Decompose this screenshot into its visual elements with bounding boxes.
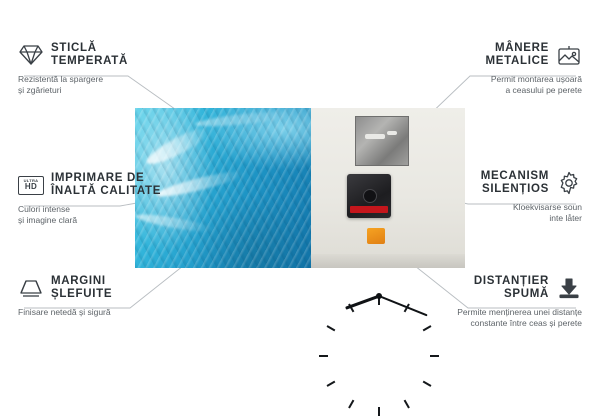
feature-title-line1: MÂNERE: [485, 42, 549, 55]
hanger-slot: [365, 134, 385, 139]
feature-title-line1: IMPRIMARE DE: [51, 172, 161, 185]
product-image: [135, 108, 465, 268]
feature-desc-line2: inte låter: [422, 213, 582, 224]
clock-minute-hand: [379, 295, 428, 316]
feature-description: Permite menținerea unei distanțe constan…: [422, 307, 582, 329]
diamond-icon: [18, 42, 44, 68]
feature-desc-line1: Finisare netedă și sigură: [18, 307, 178, 318]
feature-title-line2: SPUMĂ: [474, 288, 549, 301]
feature-description: Finisare netedă și sigură: [18, 307, 178, 318]
feature-desc-line1: Rezistentă la spargere: [18, 74, 178, 85]
feature-title-line2: ȘLEFUITE: [51, 288, 112, 301]
feature-title-line2: SILENȚIOS: [481, 183, 549, 196]
clock-hour-hand: [345, 295, 380, 310]
feature-description: Permit montarea ușoară a ceasului pe per…: [422, 74, 582, 96]
metal-hanger-part: [355, 116, 409, 166]
feature-title-line1: MARGINI: [51, 275, 112, 288]
feature-margini-slefuite: MARGINI ȘLEFUITE Finisare netedă și sigu…: [18, 275, 178, 318]
feature-desc-line2: constante între ceas și perete: [422, 318, 582, 329]
ultra-hd-badge-icon: ULTRA HD: [18, 172, 44, 198]
feature-description: Kloekvisarse soun inte låter: [422, 202, 582, 224]
feature-title: MARGINI ȘLEFUITE: [51, 275, 112, 301]
feature-desc-line1: Kloekvisarse soun: [422, 202, 582, 213]
frame-hanger-icon: [556, 42, 582, 68]
feature-desc-line2: a ceasului pe perete: [422, 85, 582, 96]
feature-description: Rezistentă la spargere și zgârieturi: [18, 74, 178, 96]
gear-icon: [556, 170, 582, 196]
clock-center-cap: [376, 293, 382, 299]
feature-desc-line1: Permite menținerea unei distanțe: [422, 307, 582, 318]
feature-title: DISTANȚIER SPUMĂ: [474, 275, 549, 301]
feature-desc-line2: și zgârieturi: [18, 85, 178, 96]
mechanism-knob: [363, 189, 377, 203]
feature-title: IMPRIMARE DE ÎNALTĂ CALITATE: [51, 172, 161, 198]
feature-manere-metalice: MÂNERE METALICE Permit montarea ușoară a…: [422, 42, 582, 96]
feature-mecanism-silentios: MECANISM SILENȚIOS Kloekvisarse soun int…: [422, 170, 582, 224]
feature-desc-line1: Culori intense: [18, 204, 178, 215]
feature-title-line2: TEMPERATĂ: [51, 55, 128, 68]
infographic-root: STICLĂ TEMPERATĂ Rezistentă la spargere …: [0, 0, 600, 400]
feature-desc-line2: și imagine clară: [18, 215, 178, 226]
down-arrow-block-icon: [556, 275, 582, 301]
feature-desc-line1: Permit montarea ușoară: [422, 74, 582, 85]
feature-title-line1: MECANISM: [481, 170, 549, 183]
feature-description: Culori intense și imagine clară: [18, 204, 178, 226]
feature-sticla-temperata: STICLĂ TEMPERATĂ Rezistentă la spargere …: [18, 42, 178, 96]
clock-mechanism-part: [347, 174, 391, 218]
feature-title-line1: DISTANȚIER: [474, 275, 549, 288]
feature-title-line2: ÎNALTĂ CALITATE: [51, 185, 161, 198]
feature-imprimare-hd: ULTRA HD IMPRIMARE DE ÎNALTĂ CALITATE Cu…: [18, 172, 178, 226]
feature-title: MECANISM SILENȚIOS: [481, 170, 549, 196]
hanger-slot-secondary: [387, 131, 397, 135]
feature-distantier-spuma: DISTANȚIER SPUMĂ Permite menținerea unei…: [422, 275, 582, 329]
feature-title: STICLĂ TEMPERATĂ: [51, 42, 128, 68]
bevel-edge-icon: [18, 275, 44, 301]
feature-title-line1: STICLĂ: [51, 42, 128, 55]
mechanism-red-label: [350, 206, 388, 213]
feature-title-line2: METALICE: [485, 55, 549, 68]
feature-title: MÂNERE METALICE: [485, 42, 549, 68]
